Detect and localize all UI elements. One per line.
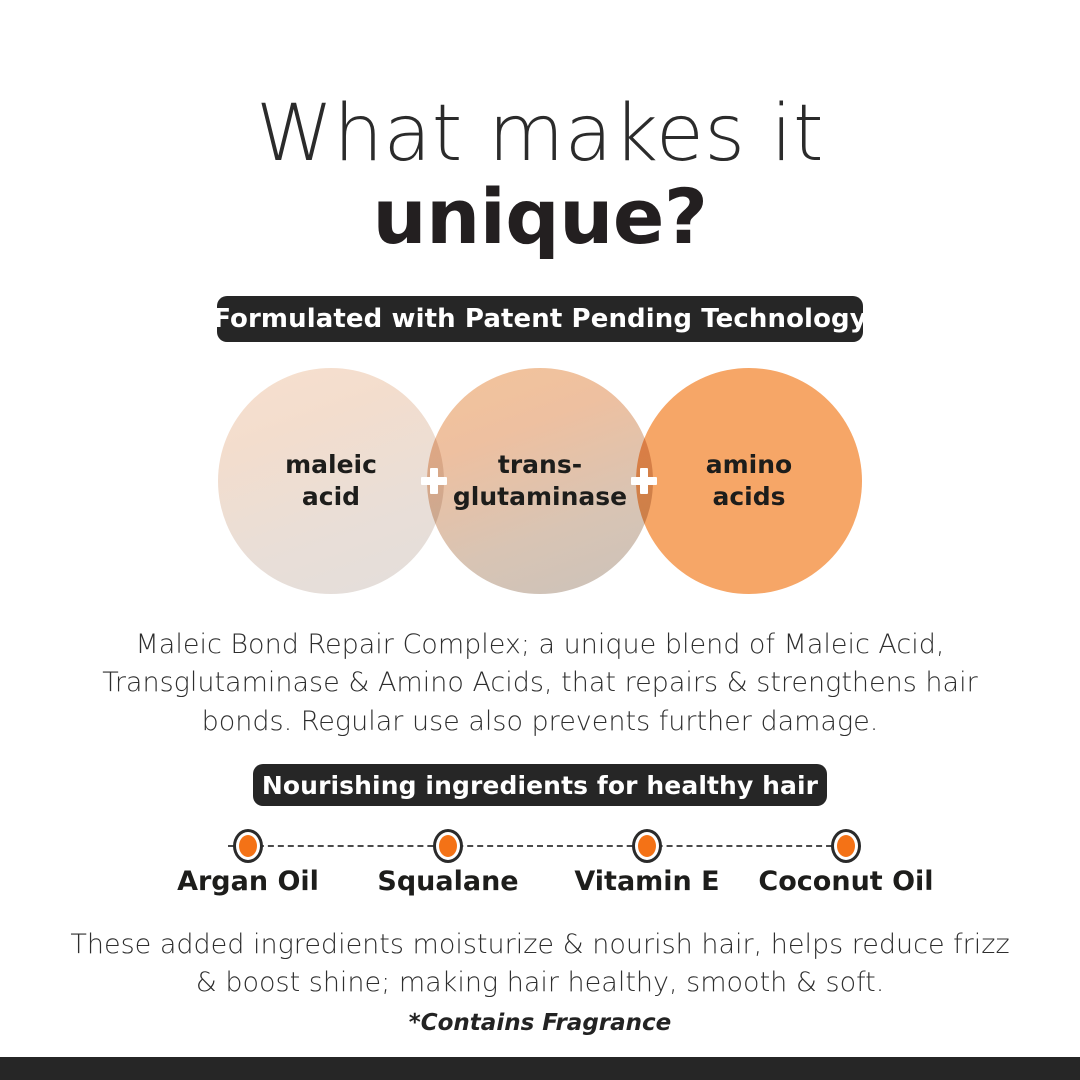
bottom-bar xyxy=(0,1057,1080,1080)
banner-nourishing-ingredients: Nourishing ingredients for healthy hair xyxy=(253,764,827,806)
page-title: What makes it unique? xyxy=(0,96,1080,255)
venn-diagram: maleic acid trans- glutaminase amino aci… xyxy=(218,368,862,594)
fragrance-disclaimer: *Contains Fragrance xyxy=(240,1010,840,1036)
plus-icon-2 xyxy=(631,468,657,494)
plus-icon-1 xyxy=(421,468,447,494)
timeline-label-coconut-oil: Coconut Oil xyxy=(758,866,933,897)
timeline-dot-icon xyxy=(635,832,659,860)
timeline-dot-icon xyxy=(436,832,460,860)
timeline-label-squalane: Squalane xyxy=(377,866,518,897)
description-added-ingredients: These added ingredients moisturize & nou… xyxy=(70,926,1010,1003)
timeline-dot-icon xyxy=(834,832,858,860)
timeline-label-vitamin-e: Vitamin E xyxy=(574,866,719,897)
banner-patent-technology: Formulated with Patent Pending Technolog… xyxy=(217,296,863,342)
timeline-dot-icon xyxy=(236,832,260,860)
ingredient-timeline: Argan Oil Squalane Vitamin E Coconut Oil xyxy=(168,832,912,910)
description-bond-repair-complex: Maleic Bond Repair Complex; a unique ble… xyxy=(60,626,1020,741)
venn-circle-maleic-acid xyxy=(218,368,444,594)
timeline-dashed-rail xyxy=(228,845,852,847)
timeline-label-argan-oil: Argan Oil xyxy=(177,866,319,897)
venn-circle-amino-acids xyxy=(636,368,862,594)
page-title-line2: unique? xyxy=(0,180,1080,254)
venn-circle-transglutaminase xyxy=(427,368,653,594)
page-title-line1: What makes it xyxy=(0,96,1080,172)
